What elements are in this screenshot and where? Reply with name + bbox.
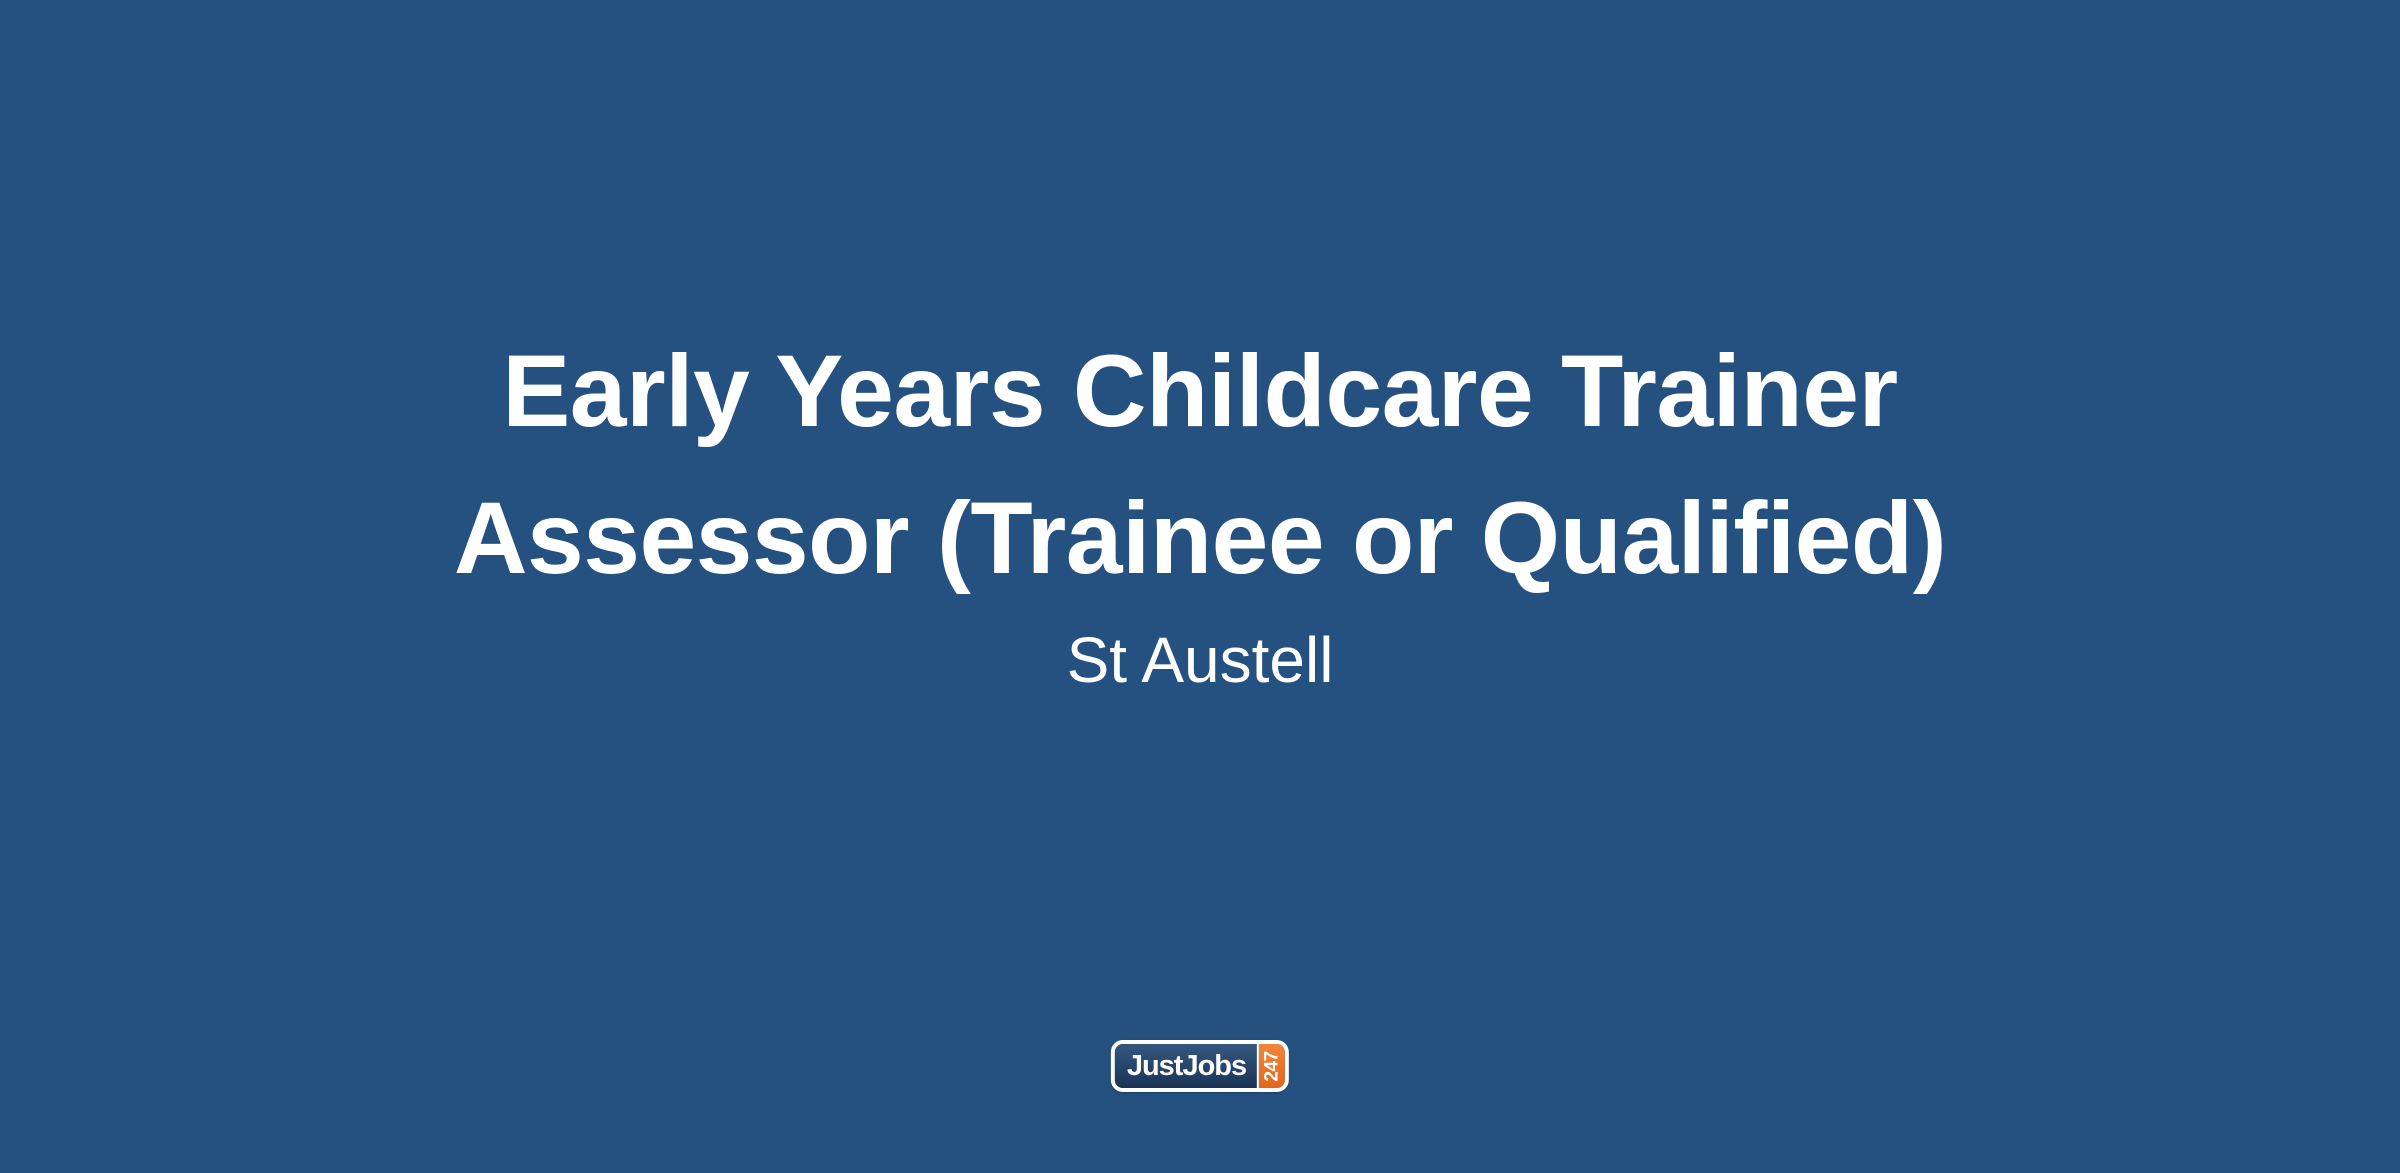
job-headline-block: Early Years Childcare Trainer Assessor (…	[0, 318, 2400, 700]
job-listing-card: Early Years Childcare Trainer Assessor (…	[0, 0, 2400, 1173]
justjobs247-logo[interactable]: JustJobs 247	[1111, 1040, 1289, 1092]
job-location: St Austell	[120, 620, 2280, 700]
page-title: Early Years Childcare Trainer Assessor (…	[340, 318, 2060, 612]
logo-wordmark-text: JustJobs	[1127, 1052, 1246, 1081]
logo-inner-frame: JustJobs 247	[1115, 1044, 1285, 1088]
logo-wordmark-panel: JustJobs	[1115, 1044, 1257, 1088]
logo-badge-text: 247	[1263, 1051, 1282, 1081]
logo-badge-panel: 247	[1257, 1044, 1285, 1088]
